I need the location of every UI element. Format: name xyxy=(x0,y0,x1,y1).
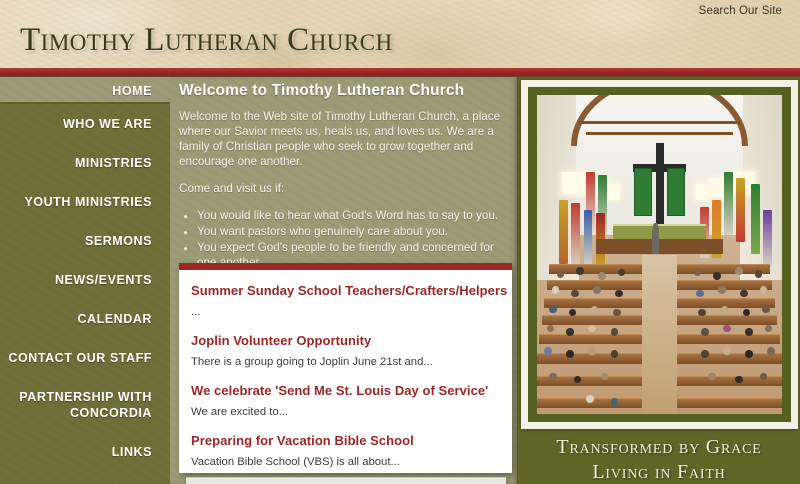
news-item-snippet: Vacation Bible School (VBS) is all about… xyxy=(191,455,500,470)
sidebar-item-links[interactable]: LINKS xyxy=(0,432,170,471)
page-title: Welcome to Timothy Lutheran Church xyxy=(170,77,517,104)
news-item-title[interactable]: Preparing for Vacation Bible School xyxy=(191,433,500,449)
welcome-paragraph-2: Come and visit us if: xyxy=(179,181,505,196)
next-panel-edge xyxy=(186,477,506,484)
main-navigation-sidebar: HOME WHO WE ARE MINISTRIES YOUTH MINISTR… xyxy=(0,77,170,484)
sidebar-item-youth-ministries[interactable]: YOUTH MINISTRIES xyxy=(0,182,170,221)
body-region: HOME WHO WE ARE MINISTRIES YOUTH MINISTR… xyxy=(0,77,800,484)
sidebar-item-label: YOUTH MINISTRIES xyxy=(24,195,152,209)
site-header: Search Our Site Timothy Lutheran Church xyxy=(0,0,800,68)
photo-mat xyxy=(528,87,791,422)
sidebar-item-contact-our-staff[interactable]: CONTACT OUR STAFF xyxy=(0,338,170,377)
list-item: Summer Sunday School Teachers/Crafters/H… xyxy=(191,283,500,320)
header-red-divider xyxy=(0,68,800,77)
search-our-site-link[interactable]: Search Our Site xyxy=(699,5,782,17)
sidebar-item-home[interactable]: HOME xyxy=(0,77,170,104)
church-sanctuary-interior-photo xyxy=(537,95,782,414)
list-item: You want pastors who genuinely care abou… xyxy=(197,224,505,239)
sidebar-item-label: CALENDAR xyxy=(77,312,152,326)
news-panel: Summer Sunday School Teachers/Crafters/H… xyxy=(179,263,512,473)
photo-sidebar: Transformed by Grace Living in Faith xyxy=(517,77,800,484)
photo-frame xyxy=(521,80,798,429)
sidebar-item-label: CONTACT OUR STAFF xyxy=(8,351,152,365)
list-item: We celebrate 'Send Me St. Louis Day of S… xyxy=(191,383,500,420)
sidebar-item-label: NEWS/EVENTS xyxy=(55,273,152,287)
site-tagline: Transformed by Grace Living in Faith xyxy=(518,435,800,484)
sidebar-item-label: HOME xyxy=(112,83,152,99)
news-item-title[interactable]: Joplin Volunteer Opportunity xyxy=(191,333,500,349)
news-item-title[interactable]: Summer Sunday School Teachers/Crafters/H… xyxy=(191,283,500,299)
sidebar-item-label: LINKS xyxy=(112,445,152,459)
news-item-snippet: There is a group going to Joplin June 21… xyxy=(191,355,500,370)
sidebar-item-label: WHO WE ARE xyxy=(63,117,152,131)
welcome-text-block: Welcome to the Web site of Timothy Luthe… xyxy=(179,109,505,271)
news-item-snippet: ... xyxy=(191,305,500,320)
sidebar-item-calendar[interactable]: CALENDAR xyxy=(0,299,170,338)
welcome-bullet-list: You would like to hear what God's Word h… xyxy=(197,208,505,270)
page-root: Search Our Site Timothy Lutheran Church … xyxy=(0,0,800,484)
sidebar-item-sermons[interactable]: SERMONS xyxy=(0,221,170,260)
tagline-line-2: Living in Faith xyxy=(518,460,800,484)
sidebar-item-label: SERMONS xyxy=(85,234,152,248)
sidebar-item-news-events[interactable]: NEWS/EVENTS xyxy=(0,260,170,299)
tagline-line-1: Transformed by Grace xyxy=(518,435,800,460)
news-item-title[interactable]: We celebrate 'Send Me St. Louis Day of S… xyxy=(191,383,500,399)
main-content-column: Welcome to Timothy Lutheran Church Welco… xyxy=(170,77,517,484)
site-title: Timothy Lutheran Church xyxy=(20,22,393,59)
sidebar-item-label: MINISTRIES xyxy=(75,156,152,170)
sidebar-item-ministries[interactable]: MINISTRIES xyxy=(0,143,170,182)
sidebar-item-label: PARTNERSHIP WITH CONCORDIA xyxy=(19,390,152,420)
sidebar-item-who-we-are[interactable]: WHO WE ARE xyxy=(0,104,170,143)
list-item: Joplin Volunteer Opportunity There is a … xyxy=(191,333,500,370)
news-item-snippet: We are excited to... xyxy=(191,405,500,420)
sidebar-item-partnership-with-concordia[interactable]: PARTNERSHIP WITH CONCORDIA xyxy=(0,377,170,432)
sidebar-item-vacation-bible-school[interactable]: VACATION BIBLE SCHOOL xyxy=(0,471,170,484)
list-item: Preparing for Vacation Bible School Vaca… xyxy=(191,433,500,470)
list-item: You would like to hear what God's Word h… xyxy=(197,208,505,223)
welcome-paragraph-1: Welcome to the Web site of Timothy Luthe… xyxy=(179,109,505,169)
